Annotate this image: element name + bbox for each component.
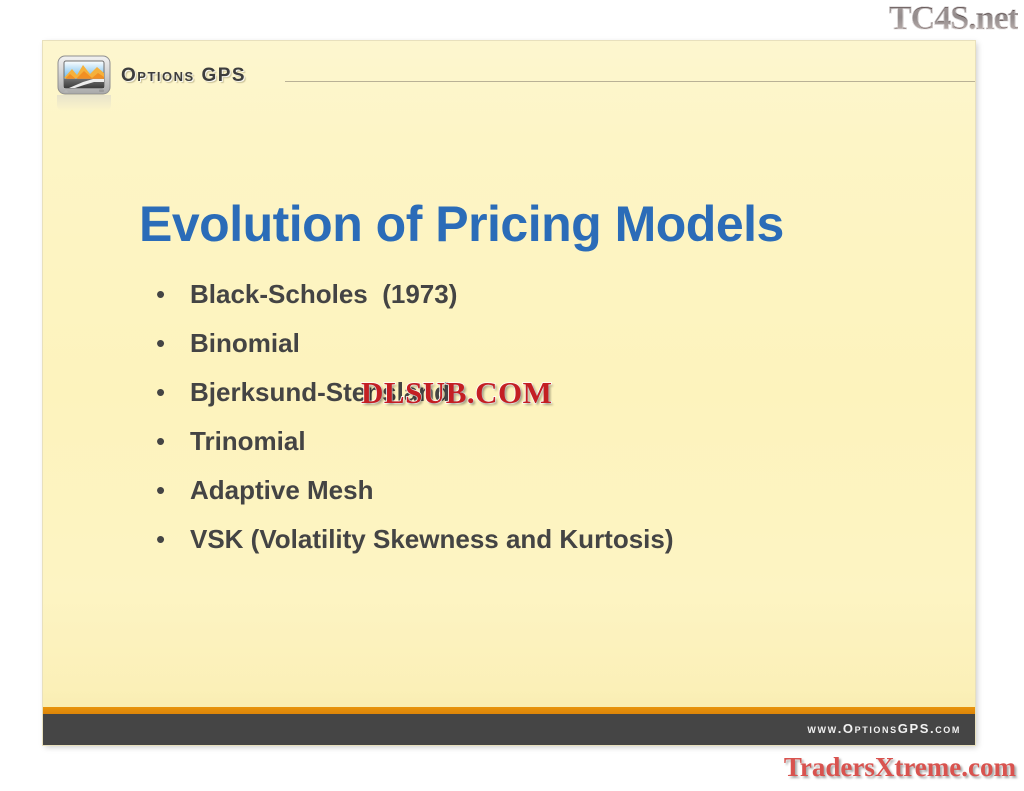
list-item: • Binomial bbox=[156, 328, 946, 377]
list-item: • Black-Scholes (1973) bbox=[156, 279, 946, 328]
slide-footer: www.OptionsGPS.com bbox=[43, 714, 975, 745]
bullet-text: VSK (Volatility Skewness and Kurtosis) bbox=[190, 524, 674, 555]
bullet-text: Adaptive Mesh bbox=[190, 475, 374, 506]
bullet-marker-icon: • bbox=[156, 281, 190, 307]
header-divider bbox=[285, 81, 975, 82]
logo-reflection bbox=[57, 95, 111, 111]
list-item: • VSK (Volatility Skewness and Kurtosis) bbox=[156, 524, 946, 573]
slide-header: Options GPS bbox=[43, 41, 975, 101]
tc4s-site-watermark: TC4S.net bbox=[889, 2, 1018, 36]
footer-accent-bar bbox=[43, 707, 975, 714]
presentation-slide: Options GPS Evolution of Pricing Models … bbox=[43, 41, 975, 745]
bullet-marker-icon: • bbox=[156, 379, 190, 405]
bullet-text: Black-Scholes (1973) bbox=[190, 279, 457, 310]
list-item: • Trinomial bbox=[156, 426, 946, 475]
gps-device-icon bbox=[57, 54, 111, 96]
dlsub-watermark: DLSUB.COM bbox=[361, 375, 552, 411]
bullet-marker-icon: • bbox=[156, 477, 190, 503]
bullet-marker-icon: • bbox=[156, 428, 190, 454]
footer-url-text: www.OptionsGPS.com bbox=[807, 721, 961, 736]
bullet-marker-icon: • bbox=[156, 330, 190, 356]
brand-wordmark: Options GPS bbox=[121, 65, 246, 87]
slide-title: Evolution of Pricing Models bbox=[139, 198, 939, 251]
bullet-text: Trinomial bbox=[190, 426, 306, 457]
bullet-marker-icon: • bbox=[156, 526, 190, 552]
bullet-list: • Black-Scholes (1973) • Binomial • Bjer… bbox=[156, 279, 946, 573]
bullet-text: Binomial bbox=[190, 328, 300, 359]
list-item: • Adaptive Mesh bbox=[156, 475, 946, 524]
tradersxtreme-site-watermark: TradersXtreme.com bbox=[784, 752, 1016, 783]
